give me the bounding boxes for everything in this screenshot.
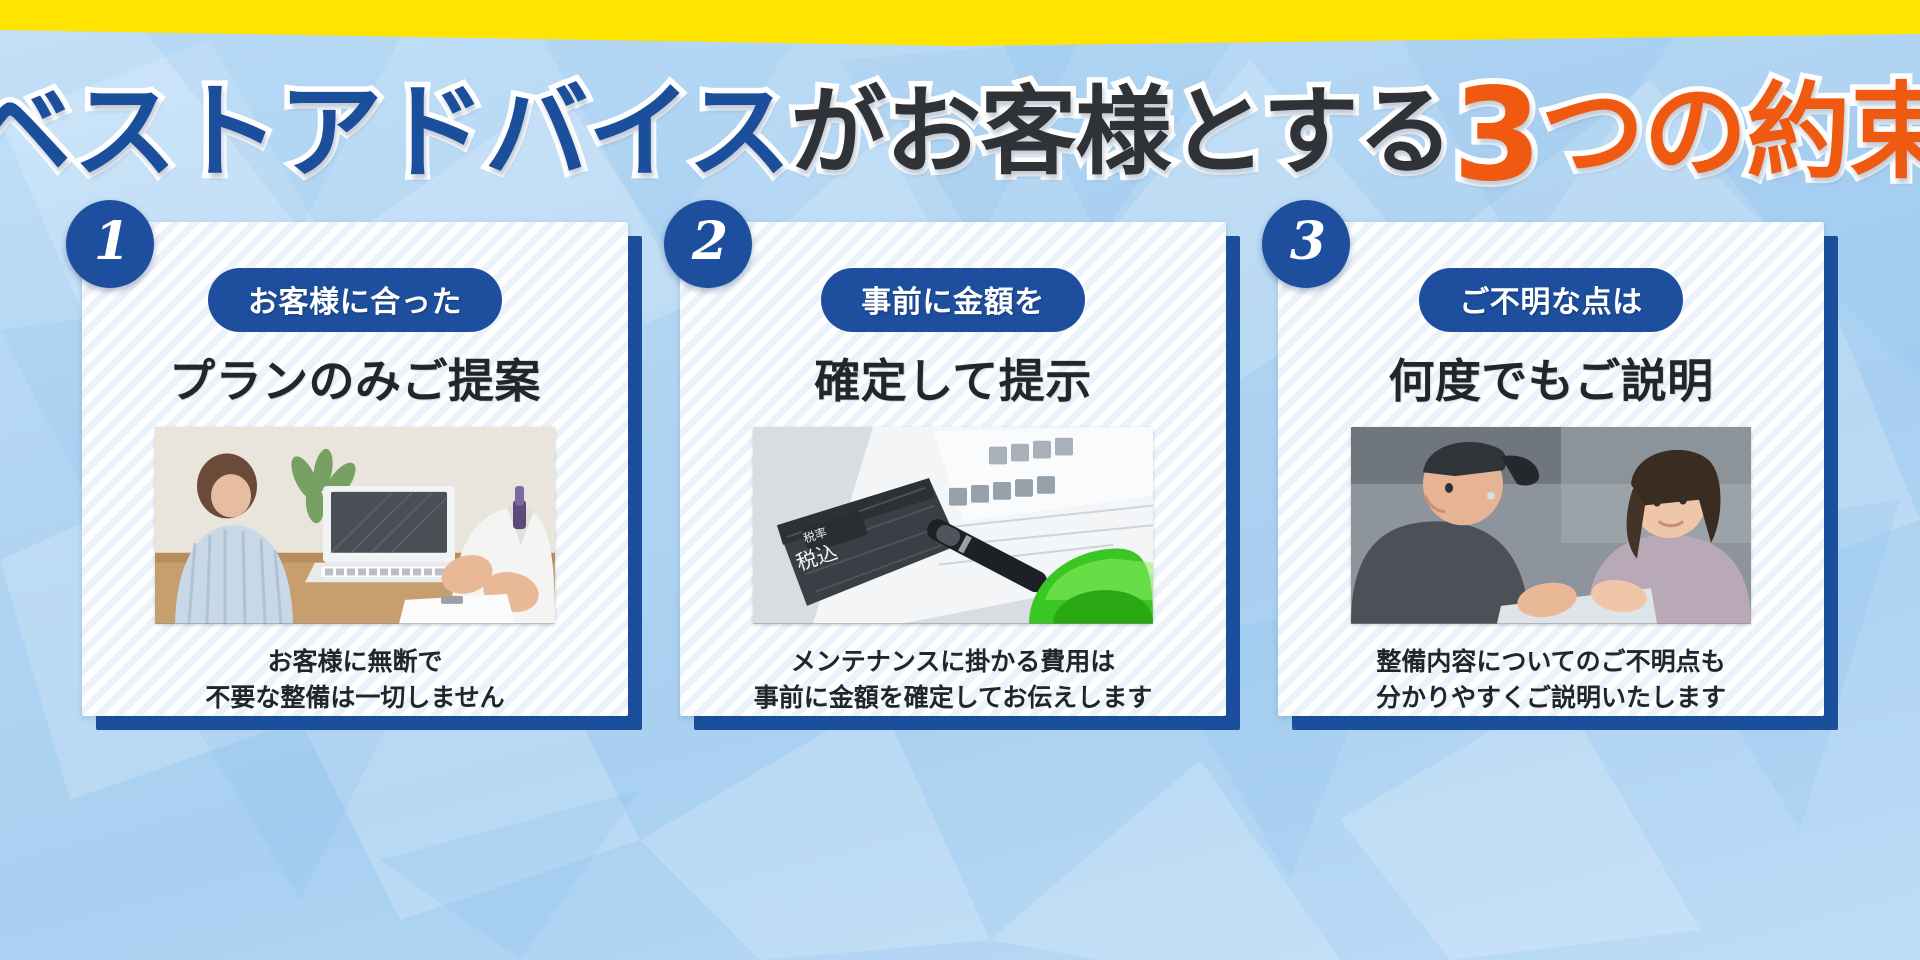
headline-number: 3 (1453, 72, 1541, 200)
card-caption: お客様に無断で 不要な整備は一切しません (205, 644, 504, 717)
card-title: 何度でもご説明 (1388, 345, 1713, 411)
card-caption-line1: メンテナンスに掛かる費用は (754, 644, 1153, 680)
headline-part1: ベストアドバイス (0, 80, 790, 184)
card-caption-line1: お客様に無断で (205, 644, 504, 680)
page-title: ベストアドバイス がお客様とする 3 つの約束 (0, 66, 1920, 198)
card-caption-line2: 不要な整備は一切しません (205, 680, 504, 716)
card-number: 2 (692, 216, 728, 268)
card-number: 1 (94, 216, 130, 268)
card-pill-label: お客様に合った (208, 268, 502, 332)
promise-card-list: お客様に合った プランのみご提案 (0, 222, 1920, 742)
consultation-photo (155, 427, 555, 624)
card-title: 確定して提示 (814, 345, 1091, 411)
card-number-badge: 1 (66, 200, 154, 288)
card-surface: 事前に金額を 確定して提示 (680, 222, 1226, 716)
card-number-badge: 3 (1262, 200, 1350, 288)
card-pill-label: ご不明な点は (1419, 268, 1683, 332)
estimate-document-photo: 税率 税込 (753, 427, 1153, 624)
headline-part3: つの約束 (1541, 80, 1920, 184)
card-surface: お客様に合った プランのみご提案 (82, 222, 628, 716)
card-number-badge: 2 (664, 200, 752, 288)
promise-card-3[interactable]: ご不明な点は 何度でもご説明 (1278, 222, 1838, 730)
promise-card-1[interactable]: お客様に合った プランのみご提案 (82, 222, 642, 730)
card-pill-label: 事前に金額を (821, 268, 1085, 332)
promise-card-2[interactable]: 事前に金額を 確定して提示 (680, 222, 1240, 730)
card-caption: メンテナンスに掛かる費用は 事前に金額を確定してお伝えします (754, 644, 1153, 717)
staff-explaining-photo (1351, 427, 1751, 624)
card-caption-line1: 整備内容についてのご不明点も (1376, 644, 1726, 680)
card-caption: 整備内容についてのご不明点も 分かりやすくご説明いたします (1376, 644, 1726, 717)
card-title: プランのみご提案 (169, 345, 541, 411)
card-surface: ご不明な点は 何度でもご説明 (1278, 222, 1824, 716)
headline-part2: がお客様とする (790, 84, 1452, 180)
card-caption-line2: 分かりやすくご説明いたします (1376, 680, 1726, 716)
card-number: 3 (1290, 216, 1326, 268)
card-caption-line2: 事前に金額を確定してお伝えします (754, 680, 1153, 716)
